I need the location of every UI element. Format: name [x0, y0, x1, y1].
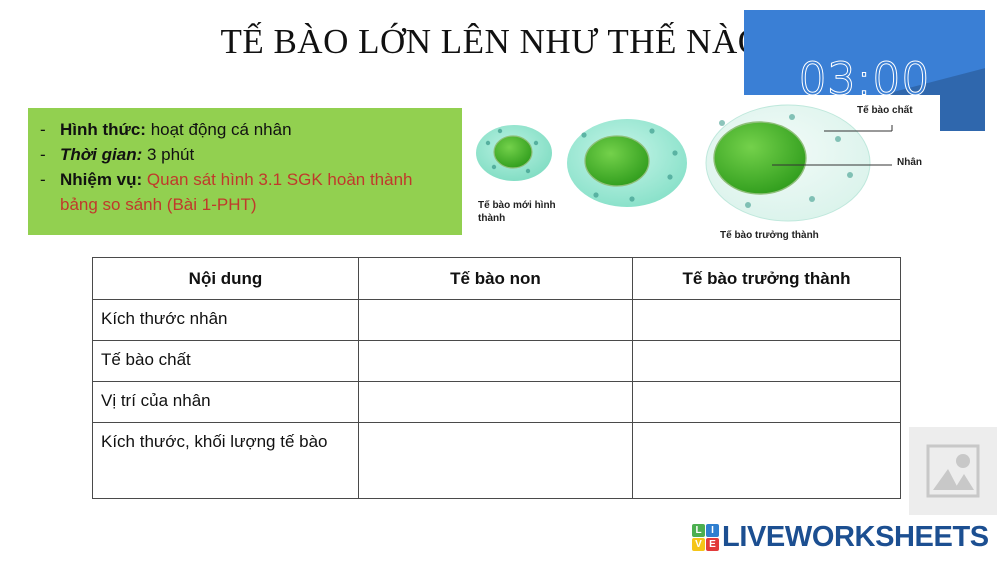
task-label: Hình thức: [60, 120, 146, 139]
column-header-te-bao-non: Tế bào non [359, 258, 633, 300]
answer-cell-truong-thanh[interactable] [633, 300, 901, 341]
table-row: Vị trí của nhân [93, 382, 901, 423]
row-label-vi-tri-cua-nhan: Vị trí của nhân [93, 382, 359, 423]
column-header-te-bao-truong-thanh: Tế bào trưởng thành [633, 258, 901, 300]
cell-small [476, 125, 552, 181]
answer-cell-truong-thanh[interactable] [633, 341, 901, 382]
task-value: 3 phút [142, 145, 194, 164]
logo-square-i: I [706, 524, 719, 537]
task-line-thoi-gian: - Thời gian: 3 phút [40, 142, 450, 167]
figure-callout-cytoplasm: Tế bào chất [857, 105, 913, 116]
table-row: Tế bào chất [93, 341, 901, 382]
answer-cell-truong-thanh[interactable] [633, 382, 901, 423]
answer-cell-non[interactable] [359, 423, 633, 499]
task-line-nhiem-vu: - Nhiệm vụ: Quan sát hình 3.1 SGK hoàn t… [40, 167, 450, 217]
answer-cell-non[interactable] [359, 300, 633, 341]
slide-canvas: TẾ BÀO LỚN LÊN NHƯ THẾ NÀO? 03:00 - Hình… [0, 0, 1000, 562]
answer-cell-truong-thanh[interactable] [633, 423, 901, 499]
row-label-kich-thuoc-nhan: Kích thước nhân [93, 300, 359, 341]
task-line-hinh-thuc: - Hình thức: hoạt động cá nhân [40, 117, 450, 142]
figure-caption-right: Tế bào trưởng thành [720, 229, 819, 242]
answer-cell-non[interactable] [359, 341, 633, 382]
logo-wordmark: LIVEWORKSHEETS [722, 521, 989, 554]
bullet-dash: - [40, 117, 60, 142]
column-header-noi-dung: Nội dung [93, 258, 359, 300]
row-label-kich-thuoc-khoi-luong: Kích thước, khối lượng tế bào [93, 423, 359, 499]
logo-square-l: L [692, 524, 705, 537]
logo-squares: L I V E [692, 524, 719, 551]
table-row: Kích thước nhân [93, 300, 901, 341]
answer-cell-non[interactable] [359, 382, 633, 423]
task-label: Nhiệm vụ: [60, 170, 142, 189]
task-value: hoạt động cá nhân [146, 120, 292, 139]
task-line-body: Thời gian: 3 phút [60, 142, 450, 167]
comparison-table: Nội dung Tế bào non Tế bào trưởng thành … [92, 257, 901, 499]
task-instructions-box: - Hình thức: hoạt động cá nhân - Thời gi… [28, 108, 462, 235]
logo-square-e: E [706, 538, 719, 551]
task-line-body: Nhiệm vụ: Quan sát hình 3.1 SGK hoàn thà… [60, 167, 450, 217]
figure-callout-nucleus: Nhân [897, 157, 922, 168]
row-label-te-bao-chat: Tế bào chất [93, 341, 359, 382]
liveworksheets-logo: L I V E LIVEWORKSHEETS [692, 521, 989, 554]
task-label: Thời gian: [60, 145, 142, 164]
bullet-dash: - [40, 142, 60, 167]
cell-large [706, 105, 870, 221]
table-header-row: Nội dung Tế bào non Tế bào trưởng thành [93, 258, 901, 300]
image-placeholder [909, 427, 997, 515]
bullet-dash: - [40, 167, 60, 192]
figure-caption-left: Tế bào mới hình thành [478, 199, 570, 225]
image-placeholder-icon [925, 443, 981, 499]
logo-square-v: V [692, 538, 705, 551]
table-row: Kích thước, khối lượng tế bào [93, 423, 901, 499]
cell-medium [567, 119, 687, 207]
task-line-body: Hình thức: hoạt động cá nhân [60, 117, 450, 142]
cell-growth-figure: Tế bào mới hình thành Tế bào trưởng thàn… [472, 95, 940, 250]
